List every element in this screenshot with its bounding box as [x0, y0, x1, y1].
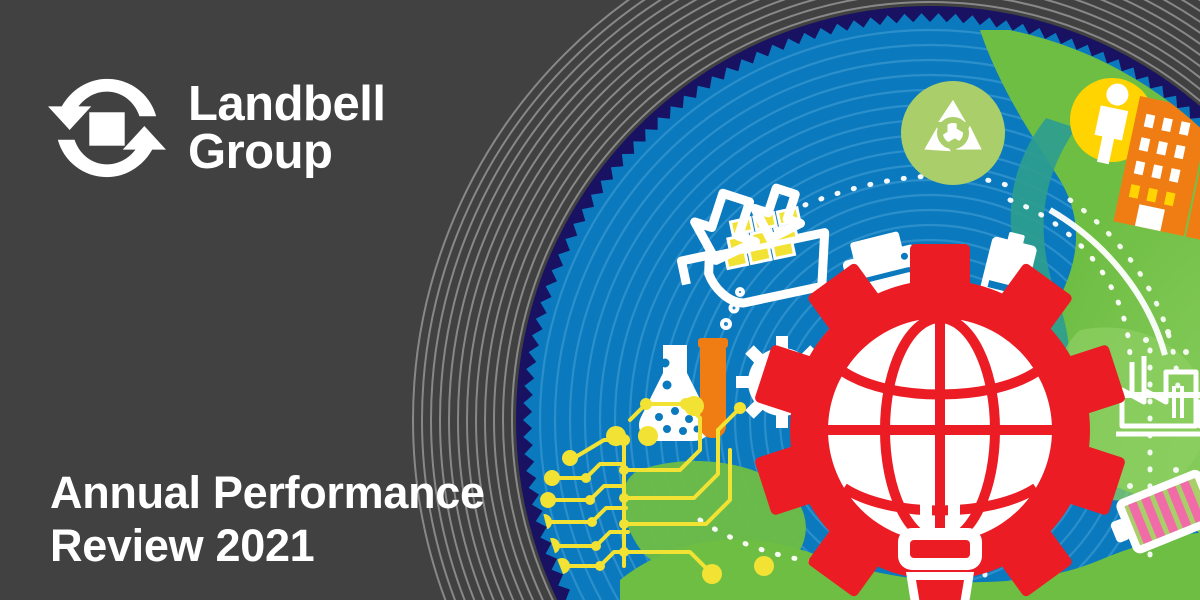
- red-gear-globe-plug: [754, 244, 1126, 600]
- circuit-tree-icon: [548, 404, 740, 574]
- down-arrows-icon: [685, 184, 808, 270]
- landbell-recycling-arrows-logo: [48, 69, 166, 187]
- circuit-nodes: [536, 396, 774, 584]
- city-buildings-icon: [1113, 96, 1200, 245]
- cargo-ship-icon: [676, 203, 836, 314]
- test-tube-icon: [698, 338, 728, 438]
- navy-ring: [516, 6, 1200, 600]
- globe-disc: [523, 13, 1200, 600]
- power-plug-icon: [898, 492, 982, 600]
- brand-logo-text: Landbell Group: [188, 32, 385, 224]
- battery-icon: [974, 228, 1039, 323]
- globe-icon: [828, 318, 1052, 542]
- dotted-flow-paths: [700, 176, 1130, 565]
- land-mass-northeast: [980, 30, 1200, 600]
- factory-truck-icon: [1116, 356, 1200, 434]
- sun-person-icon: [1070, 78, 1154, 166]
- shore-teal-accent: [916, 118, 1076, 600]
- brand-logo[interactable]: Landbell Group: [48, 32, 385, 224]
- brand-logo-line1: Landbell: [188, 77, 385, 131]
- dotted-flow-paths-green: [984, 200, 1178, 575]
- page-title: Annual Performance Review 2021: [50, 466, 485, 572]
- flask-icon: [639, 345, 711, 441]
- recycling-symbol-icon: [901, 81, 1005, 185]
- concentric-grey-rings: [413, 0, 1200, 600]
- page-title-line1: Annual Performance: [50, 466, 485, 519]
- land-island-southwest: [623, 461, 806, 585]
- land-mass-south: [620, 530, 1200, 600]
- striped-battery-icon: [1103, 468, 1200, 561]
- brand-logo-line2: Group: [188, 128, 385, 176]
- bubbles-icon: [722, 289, 743, 328]
- land-contour-lines: [1050, 210, 1200, 395]
- printer-icon: [838, 228, 928, 320]
- land-dots: [1127, 329, 1189, 489]
- small-gear-icon: [736, 336, 828, 428]
- land-patch-light: [1049, 327, 1200, 500]
- gear-icon: [754, 244, 1126, 600]
- report-cover: Landbell Group Annual Performance Review…: [0, 0, 1200, 600]
- page-title-line2: Review 2021: [50, 519, 485, 572]
